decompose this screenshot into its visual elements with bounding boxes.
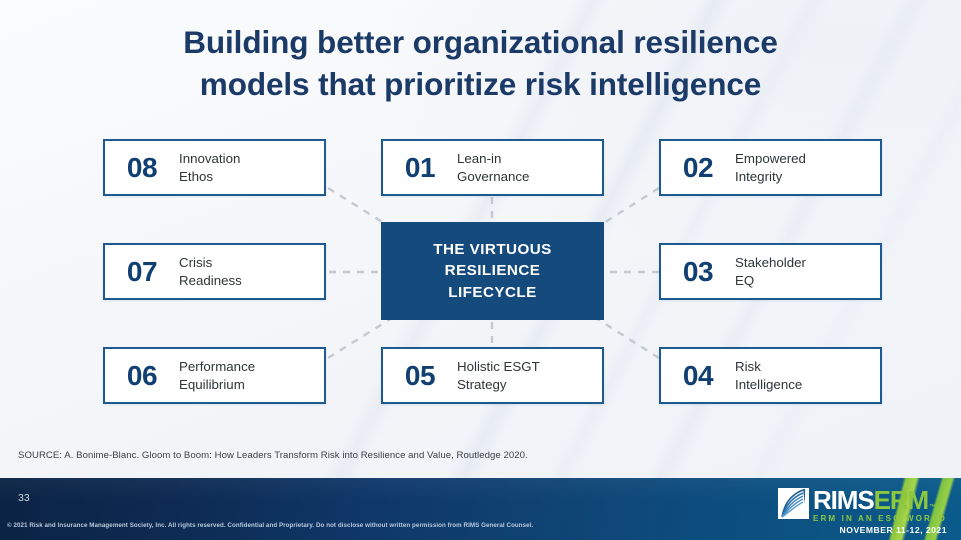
cell-number: 04: [661, 360, 735, 392]
cell-number: 02: [661, 152, 735, 184]
logo-brand-secondary: ERM: [874, 487, 928, 513]
cell-label-line-2: Ethos: [179, 168, 240, 186]
cell-label: Innovation Ethos: [179, 150, 240, 186]
cell-label: Performance Equilibrium: [179, 358, 255, 394]
diagram-hub: THE VIRTUOUS RESILIENCE LIFECYCLE: [381, 222, 604, 320]
lifecycle-cell-03[interactable]: 03 Stakeholder EQ: [659, 243, 882, 300]
source-note: SOURCE: A. Bonime-Blanc. Gloom to Boom: …: [18, 450, 528, 461]
lifecycle-cell-02[interactable]: 02 Empowered Integrity: [659, 139, 882, 196]
cell-number: 05: [383, 360, 457, 392]
cell-label: Holistic ESGT Strategy: [457, 358, 540, 394]
cell-label-line-1: Performance: [179, 358, 255, 376]
cell-label-line-1: Lean-in: [457, 150, 529, 168]
rims-erm-logo: RIMS ERM ™ ERM IN AN ESG WORLD NOVEMBER …: [778, 487, 947, 531]
hub-line-2: RESILIENCE: [433, 260, 551, 282]
cell-label-line-2: Equilibrium: [179, 376, 255, 394]
cell-label-line-2: Readiness: [179, 272, 242, 290]
cell-label-line-2: EQ: [735, 272, 806, 290]
cell-label-line-1: Risk: [735, 358, 802, 376]
cell-label-line-1: Innovation: [179, 150, 240, 168]
cell-label: Empowered Integrity: [735, 150, 806, 186]
cell-number: 08: [105, 152, 179, 184]
event-date: NOVEMBER 11-12, 2021: [813, 525, 947, 535]
logo-text-block: RIMS ERM ™ ERM IN AN ESG WORLD NOVEMBER …: [813, 487, 947, 535]
lifecycle-cell-01[interactable]: 01 Lean-in Governance: [381, 139, 604, 196]
slide-footer: 33 © 2021 Risk and Insurance Management …: [0, 478, 961, 540]
cell-label-line-2: Governance: [457, 168, 529, 186]
cell-label: Stakeholder EQ: [735, 254, 806, 290]
hub-line-1: THE VIRTUOUS: [433, 239, 551, 261]
cell-number: 01: [383, 152, 457, 184]
copyright-notice: © 2021 Risk and Insurance Management Soc…: [7, 522, 533, 529]
lifecycle-cell-08[interactable]: 08 Innovation Ethos: [103, 139, 326, 196]
cell-label-line-1: Crisis: [179, 254, 242, 272]
logo-tagline: ERM IN AN ESG WORLD: [813, 514, 947, 523]
slide-canvas: Building better organizational resilienc…: [0, 0, 961, 540]
cell-label-line-2: Integrity: [735, 168, 806, 186]
cell-label: Crisis Readiness: [179, 254, 242, 290]
cell-label-line-1: Stakeholder: [735, 254, 806, 272]
lifecycle-cell-04[interactable]: 04 Risk Intelligence: [659, 347, 882, 404]
hub-text: THE VIRTUOUS RESILIENCE LIFECYCLE: [433, 239, 551, 304]
cell-label-line-2: Strategy: [457, 376, 540, 394]
cell-number: 03: [661, 256, 735, 288]
cell-label-line-1: Holistic ESGT: [457, 358, 540, 376]
lifecycle-cell-06[interactable]: 06 Performance Equilibrium: [103, 347, 326, 404]
logo-wordmark: RIMS ERM ™: [813, 487, 947, 513]
hub-line-3: LIFECYCLE: [433, 282, 551, 304]
trademark-symbol: ™: [929, 504, 936, 511]
logo-brand-primary: RIMS: [813, 487, 874, 513]
rims-fan-logo-icon: [778, 488, 809, 519]
cell-label: Risk Intelligence: [735, 358, 802, 394]
lifecycle-cell-05[interactable]: 05 Holistic ESGT Strategy: [381, 347, 604, 404]
cell-number: 06: [105, 360, 179, 392]
lifecycle-cell-07[interactable]: 07 Crisis Readiness: [103, 243, 326, 300]
slide-number: 33: [18, 492, 30, 504]
virtuous-resilience-lifecycle-diagram: 08 Innovation Ethos 01 Lean-in Governanc…: [0, 0, 961, 440]
cell-label: Lean-in Governance: [457, 150, 529, 186]
cell-label-line-1: Empowered: [735, 150, 806, 168]
cell-number: 07: [105, 256, 179, 288]
cell-label-line-2: Intelligence: [735, 376, 802, 394]
